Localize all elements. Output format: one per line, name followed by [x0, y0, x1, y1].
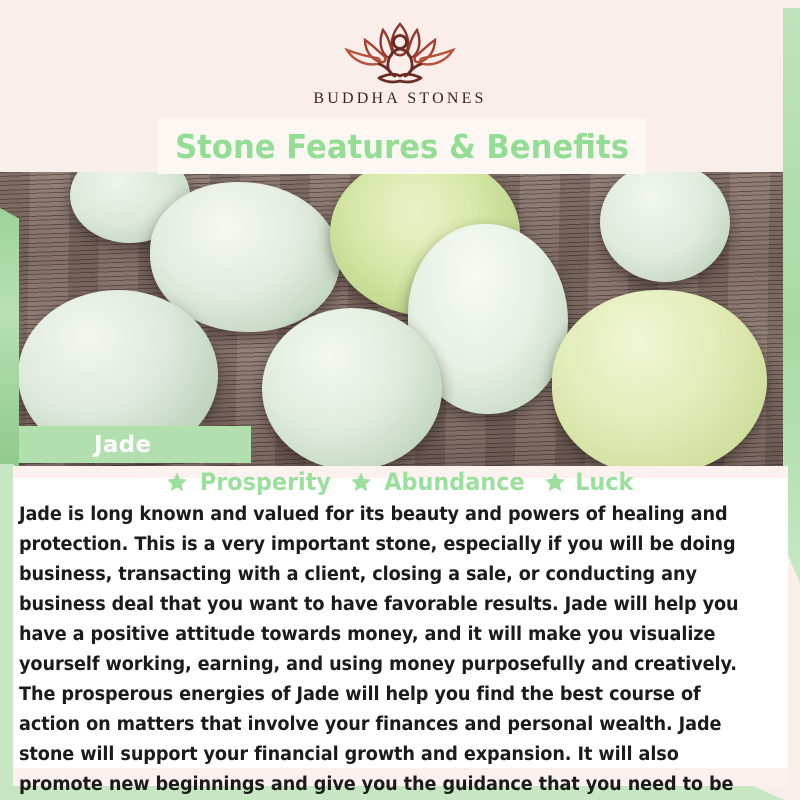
- stone-name-tag: Jade: [19, 426, 251, 463]
- benefit-item: Abundance: [350, 468, 530, 496]
- lotus-meditation-icon: [335, 16, 465, 88]
- jade-stone: [552, 290, 767, 466]
- benefit-item: Prosperity: [166, 468, 336, 496]
- star-icon: [350, 471, 372, 493]
- decorative-band-left: [0, 208, 19, 470]
- page-title: Stone Features & Benefits: [175, 127, 629, 166]
- brand-name: BUDDHA STONES: [313, 90, 486, 108]
- title-banner: Stone Features & Benefits: [158, 118, 646, 174]
- benefit-label: Abundance: [384, 468, 524, 496]
- content-panel: Prosperity Abundance Luck Jade is long k…: [13, 466, 788, 786]
- stone-info-poster: BUDDHA STONES Stone Features & Benefits …: [0, 0, 800, 800]
- stone-description: Jade is long known and valued for its be…: [19, 500, 756, 800]
- star-icon: [544, 471, 566, 493]
- jade-stone: [262, 308, 442, 466]
- jade-stones-photo: [0, 172, 800, 466]
- benefit-item: Luck: [544, 468, 636, 496]
- decorative-band-left-lower: [0, 464, 14, 800]
- benefit-label: Luck: [575, 468, 633, 496]
- star-icon: [166, 471, 188, 493]
- benefits-row: Prosperity Abundance Luck: [13, 468, 788, 496]
- stone-name: Jade: [94, 432, 151, 458]
- benefit-label: Prosperity: [200, 468, 331, 496]
